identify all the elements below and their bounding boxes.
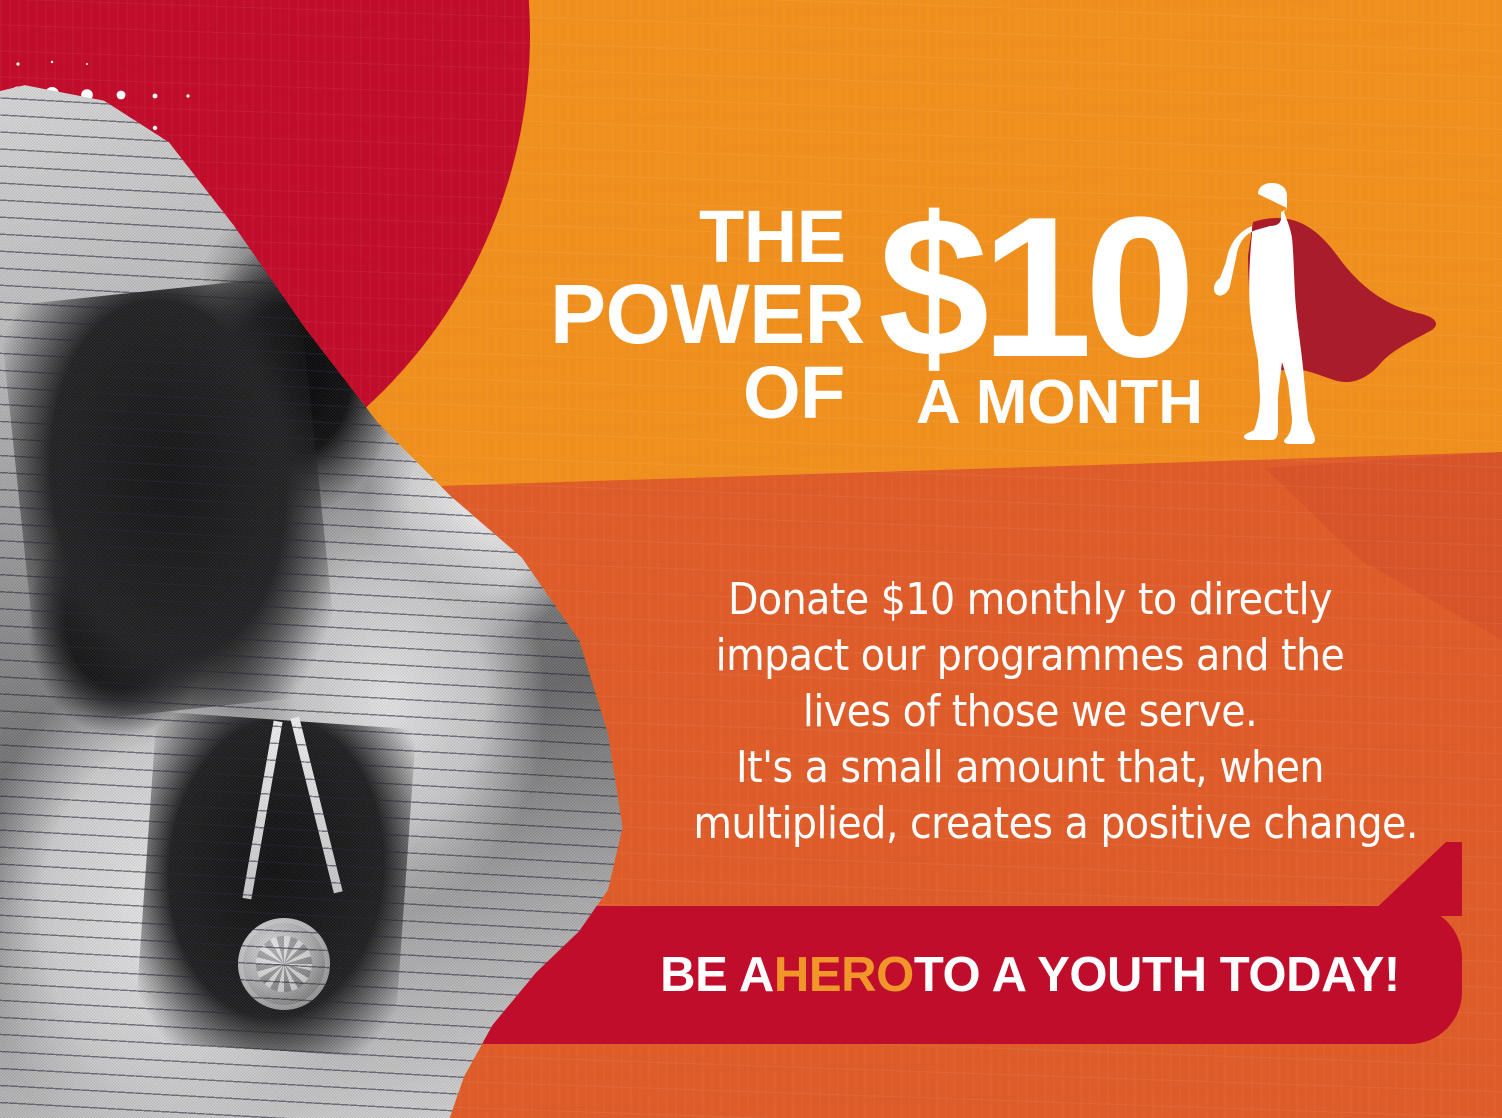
- body-copy: Donate $10 monthly to directly impact ou…: [693, 572, 1366, 852]
- medal-icon-fg: [238, 918, 330, 1010]
- headline-power: POWER: [550, 272, 865, 356]
- superhero-silhouette-icon: [1196, 182, 1450, 446]
- headline-period: A MONTH: [916, 372, 1203, 434]
- cta-banner[interactable]: BE A HERO TO A YOUTH TODAY!: [470, 906, 1462, 1044]
- body-copy-line-4: It's a small amount that, when: [693, 740, 1366, 796]
- poster-root: THE POWER OF $10 A MONTH Donate $10 mont…: [0, 0, 1502, 1118]
- cta-text-prefix: BE A: [660, 947, 774, 1003]
- headline-group: THE POWER OF $10 A MONTH: [548, 196, 1248, 436]
- photo-shadow-region-a-fg: [0, 275, 341, 724]
- headline-the: THE: [699, 200, 846, 274]
- body-copy-line-1: Donate $10 monthly to directly: [693, 572, 1366, 628]
- body-copy-line-5: multiplied, creates a positive change.: [693, 796, 1366, 852]
- superhero-svg: [1196, 182, 1450, 446]
- cta-text-highlight: HERO: [774, 947, 914, 1003]
- headline-amount: $10: [878, 188, 1188, 388]
- body-copy-line-2: impact our programmes and the: [693, 628, 1366, 684]
- cta-text-suffix: TO A YOUTH TODAY!: [914, 947, 1400, 1003]
- cta-banner-text: BE A HERO TO A YOUTH TODAY!: [470, 906, 1462, 1044]
- body-copy-line-3: lives of those we serve.: [693, 684, 1366, 740]
- headline-of: OF: [743, 356, 845, 430]
